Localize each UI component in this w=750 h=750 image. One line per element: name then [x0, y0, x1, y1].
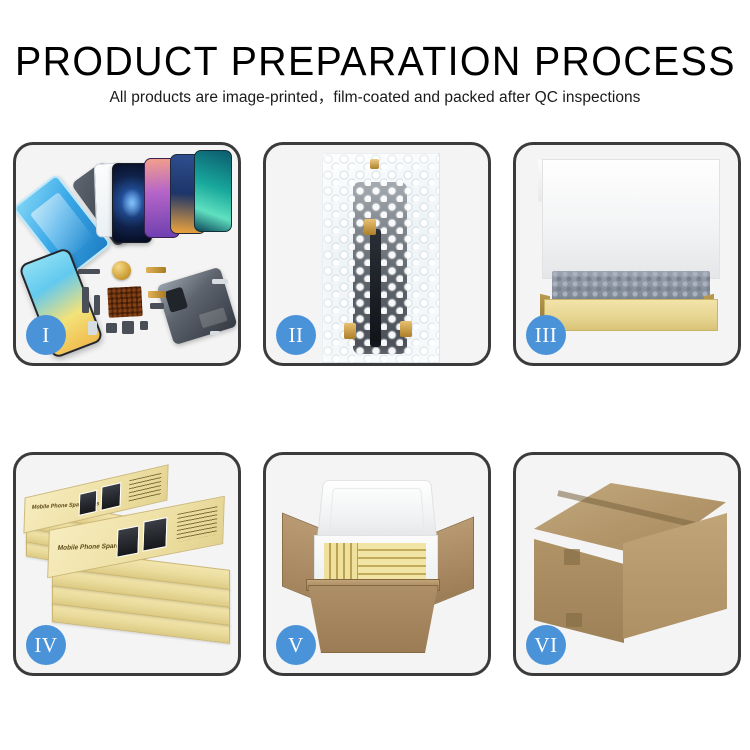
part-strip-9 [122, 321, 134, 334]
part-strip-5 [148, 291, 166, 298]
part-strip-1 [78, 269, 100, 274]
box-screen-thumb-front-1 [116, 525, 139, 557]
step-badge-3: III [526, 315, 566, 355]
step-badge-1: I [26, 315, 66, 355]
part-strip-8 [106, 323, 117, 333]
foam-cooler-lid [317, 480, 438, 541]
box-screen-thumb-rear-2 [101, 482, 122, 511]
process-step-panel-4[interactable]: Mobile Phone Spare Parts Mobile Phone Sp… [13, 452, 241, 676]
process-step-panel-1[interactable]: I [13, 142, 241, 366]
screw-grid-icon [107, 286, 143, 318]
box-screen-thumb-rear-1 [79, 490, 98, 516]
carton-body [308, 585, 438, 653]
round-component-icon [112, 261, 131, 280]
part-strip-3 [82, 287, 89, 313]
box-text-lines-front [177, 506, 218, 542]
step-badge-5: V [276, 625, 316, 665]
yellow-box-front [544, 299, 718, 331]
part-strip-4 [94, 295, 100, 315]
process-step-panel-6[interactable]: VI [513, 452, 741, 676]
part-strip-10 [140, 321, 148, 330]
part-strip-11 [210, 331, 220, 335]
white-foam-lid [542, 159, 720, 279]
part-strip-2 [146, 267, 166, 273]
part-strip-7 [88, 321, 97, 335]
part-strip-6 [150, 303, 164, 309]
bag-seal-sheen [322, 153, 438, 361]
carton-tape-upper [564, 549, 580, 565]
box-text-lines-rear [129, 473, 162, 503]
process-step-panel-2[interactable]: II [263, 142, 491, 366]
step-badge-4: IV [26, 625, 66, 665]
step-badge-2: II [276, 315, 316, 355]
box-screen-thumb-front-2 [142, 517, 167, 552]
carton-tape-lower [566, 613, 582, 627]
screwdriver-icon [212, 279, 228, 284]
phone-display-teal-icon [194, 150, 232, 232]
process-step-panel-5[interactable]: V [263, 452, 491, 676]
step-badge-6: VI [526, 625, 566, 665]
yellow-boxes-inside [324, 543, 426, 581]
process-step-panel-3[interactable]: III [513, 142, 741, 366]
process-step-grid: I II III [0, 0, 750, 750]
